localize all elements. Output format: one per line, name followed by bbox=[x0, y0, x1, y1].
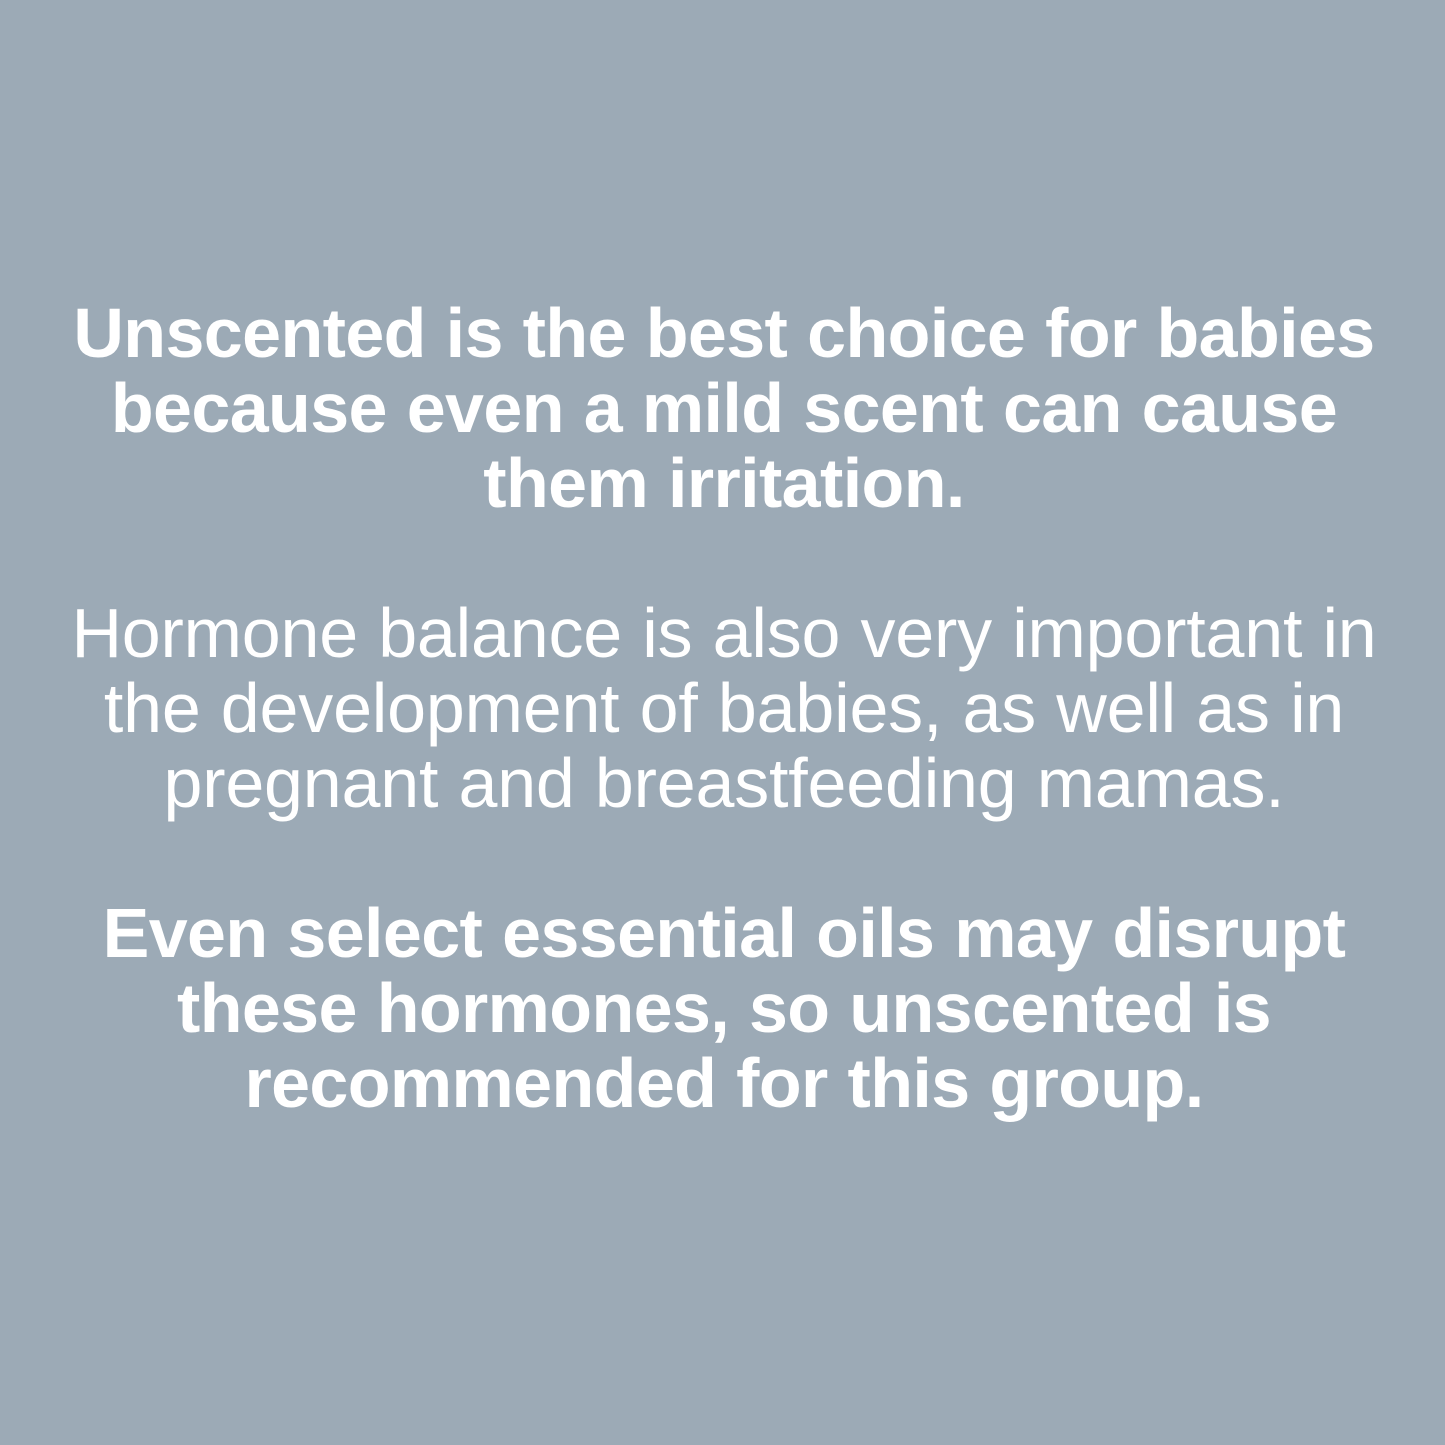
text-graphic-card: Unscented is the best choice for babies … bbox=[0, 0, 1445, 1445]
paragraph-spacer-2 bbox=[48, 821, 1400, 896]
paragraph-hormone-balance: Hormone balance is also very important i… bbox=[48, 596, 1400, 821]
paragraph-spacer-1 bbox=[48, 521, 1400, 596]
paragraph-unscented-best-choice: Unscented is the best choice for babies … bbox=[48, 296, 1400, 521]
copy-block: Unscented is the best choice for babies … bbox=[48, 296, 1400, 1121]
paragraph-essential-oils-disrupt: Even select essential oils may disrupt t… bbox=[48, 896, 1400, 1121]
